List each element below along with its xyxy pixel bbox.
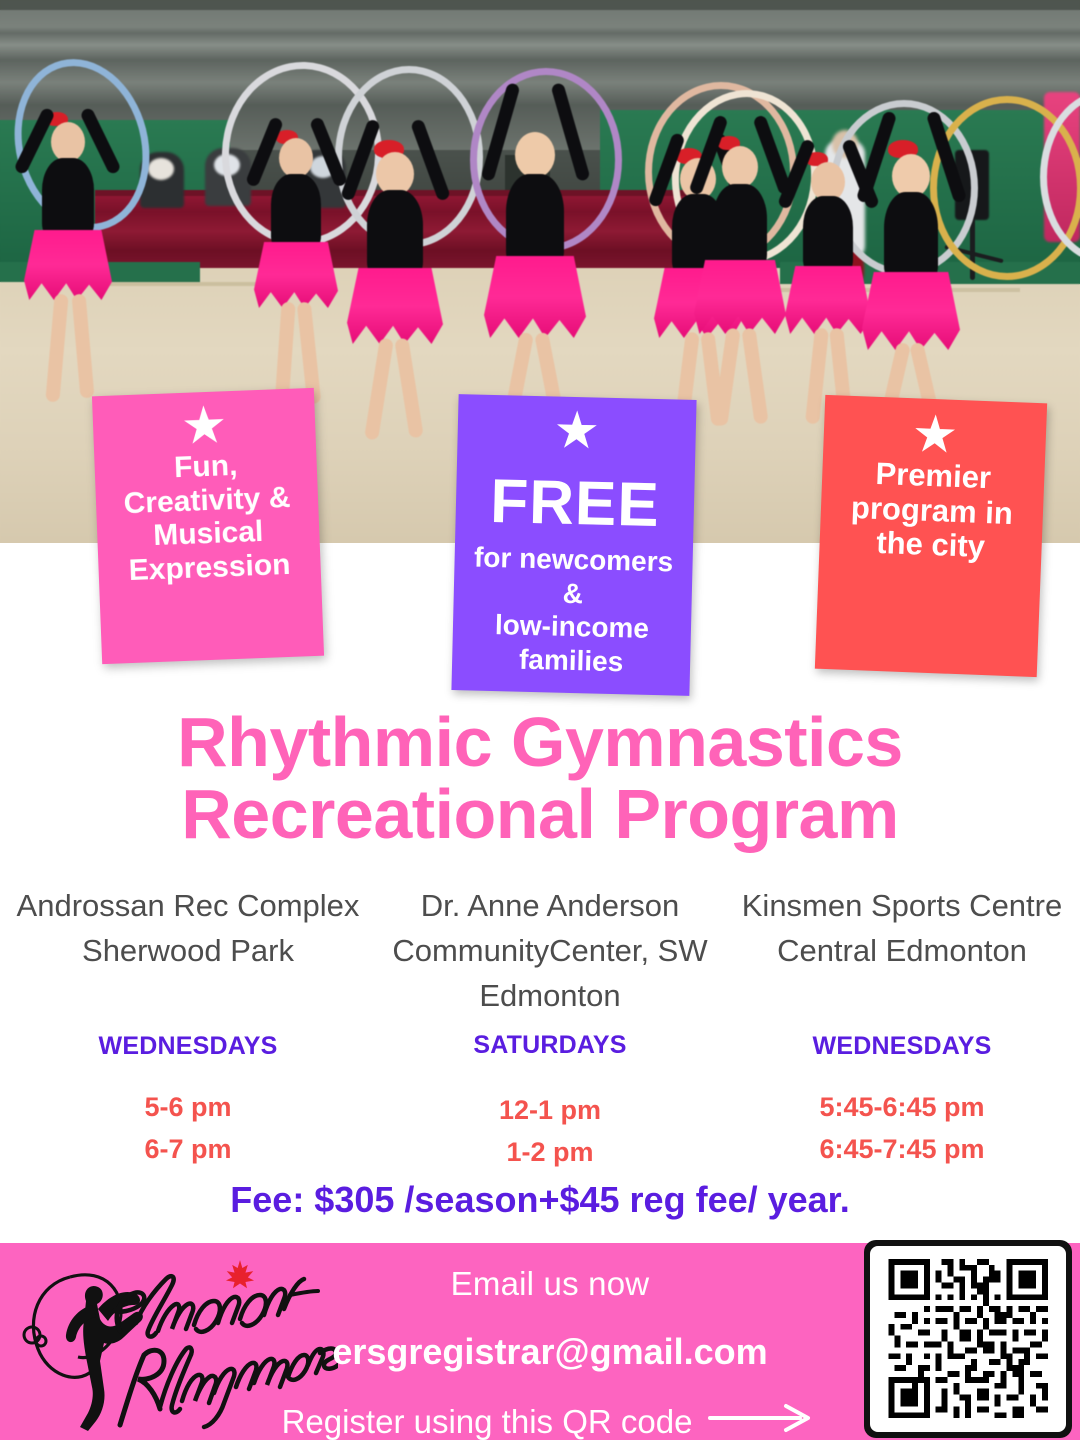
page-title: Rhythmic Gymnastics Recreational Program xyxy=(0,706,1080,850)
star-icon: ★ xyxy=(183,401,226,449)
star-icon: ★ xyxy=(913,410,956,458)
gymnast-skirt xyxy=(862,272,960,350)
free-badge: ★ FREE for newcomers & low-income famili… xyxy=(451,394,696,696)
schedule-day: WEDNESDAYS xyxy=(0,1032,376,1061)
schedule-times: 5-6 pm 6-7 pm xyxy=(0,1087,376,1171)
qr-instruction: Register using this QR code xyxy=(250,1403,850,1440)
badge-line: Expression xyxy=(120,547,299,587)
fun-creativity-badge: ★ Fun, Creativity & Musical Expression xyxy=(92,388,324,664)
gymnast-leg xyxy=(71,294,94,399)
gymnast-leotard xyxy=(271,174,321,250)
venue-name: Dr. Anne Anderson CommunityCenter, SW Ed… xyxy=(376,884,724,1019)
venue-line: Androssan Rec Complex xyxy=(0,884,376,929)
venue-line: Edmonton xyxy=(376,974,724,1019)
email-address[interactable]: ersgregistrar@gmail.com xyxy=(250,1331,850,1373)
title-line-2: Recreational Program xyxy=(0,778,1080,850)
gymnast xyxy=(478,118,592,438)
badge-line: Creativity & xyxy=(115,480,299,521)
venue-line: Central Edmonton xyxy=(724,929,1080,974)
gymnast xyxy=(340,140,450,440)
location-column-anne-anderson: Dr. Anne Anderson CommunityCenter, SW Ed… xyxy=(376,884,724,1174)
time-slot: 6:45-7:45 pm xyxy=(724,1129,1080,1171)
gymnast-head xyxy=(722,146,758,188)
time-slot: 6-7 pm xyxy=(0,1129,376,1171)
title-line-1: Rhythmic Gymnastics xyxy=(0,706,1080,778)
location-column-kinsmen: Kinsmen Sports Centre Central Edmonton W… xyxy=(724,884,1080,1174)
gymnast-leg xyxy=(713,328,741,427)
badge-line: Fun, xyxy=(165,449,246,486)
badge-line: low-income xyxy=(487,608,658,646)
gymnast-leotard xyxy=(884,192,938,282)
gymnast-skirt xyxy=(484,256,586,338)
schedule-day: WEDNESDAYS xyxy=(724,1032,1080,1061)
gymnast-leotard xyxy=(713,184,767,270)
location-column-androssan: Androssan Rec Complex Sherwood Park WEDN… xyxy=(0,884,376,1174)
star-icon: ★ xyxy=(556,407,598,454)
gymnast-skirt xyxy=(254,242,338,308)
gymnast-leotard xyxy=(803,196,853,274)
arrow-right-icon xyxy=(708,1403,818,1440)
venue-name: Androssan Rec Complex Sherwood Park xyxy=(0,884,376,974)
venue-line: Kinsmen Sports Centre xyxy=(724,884,1080,929)
gymnast-skirt xyxy=(694,260,786,334)
qr-code-inner xyxy=(870,1246,1066,1432)
free-headline: FREE xyxy=(490,471,661,537)
badge-line: the city xyxy=(868,526,994,565)
gymnast xyxy=(856,140,966,440)
gymnast xyxy=(690,136,790,426)
gymnast-head xyxy=(279,138,313,178)
contact-block: Email us now ersgregistrar@gmail.com Reg… xyxy=(250,1253,850,1440)
poster-root: ★ Fun, Creativity & Musical Expression ★… xyxy=(0,0,1080,1440)
gymnast xyxy=(20,112,116,402)
schedule-day: SATURDAYS xyxy=(376,1031,724,1060)
gymnast-skirt xyxy=(24,230,112,300)
qr-instruction-label: Register using this QR code xyxy=(282,1403,693,1440)
venue-line: Dr. Anne Anderson xyxy=(376,884,724,929)
gymnast-leg xyxy=(741,327,768,424)
badge-line: families xyxy=(511,642,632,679)
gymnast-leotard xyxy=(42,158,94,238)
venue-line: CommunityCenter, SW xyxy=(376,929,724,974)
official-mask xyxy=(148,158,174,180)
gymnast-head xyxy=(515,132,555,178)
locations-row: Androssan Rec Complex Sherwood Park WEDN… xyxy=(0,884,1080,1174)
badge-line: Musical xyxy=(145,515,272,553)
registration-qr-code[interactable] xyxy=(864,1240,1072,1438)
gymnast-skirt xyxy=(347,268,443,344)
gymnast-head xyxy=(51,122,85,162)
time-slot: 5-6 pm xyxy=(0,1087,376,1129)
schedule-times: 5:45-6:45 pm 6:45-7:45 pm xyxy=(724,1087,1080,1171)
schedule-times: 12-1 pm 1-2 pm xyxy=(376,1090,724,1174)
badge-line: for newcomers & xyxy=(453,540,693,613)
premier-badge: ★ Premier program in the city xyxy=(815,395,1047,677)
time-slot: 1-2 pm xyxy=(376,1132,724,1174)
fee-line: Fee: $305 /season+$45 reg fee/ year. xyxy=(0,1179,1080,1221)
gymnast xyxy=(248,130,344,410)
wall-band xyxy=(0,0,1080,10)
time-slot: 12-1 pm xyxy=(376,1090,724,1132)
gymnast-leg xyxy=(45,294,68,403)
email-label: Email us now xyxy=(250,1265,850,1303)
gymnast-leg xyxy=(394,338,423,439)
venue-name: Kinsmen Sports Centre Central Edmonton xyxy=(724,884,1080,974)
gymnast-leotard xyxy=(506,174,564,268)
gymnast-leotard xyxy=(367,190,423,278)
venue-line: Sherwood Park xyxy=(0,929,376,974)
time-slot: 5:45-6:45 pm xyxy=(724,1087,1080,1129)
gymnast-leg xyxy=(364,338,394,441)
